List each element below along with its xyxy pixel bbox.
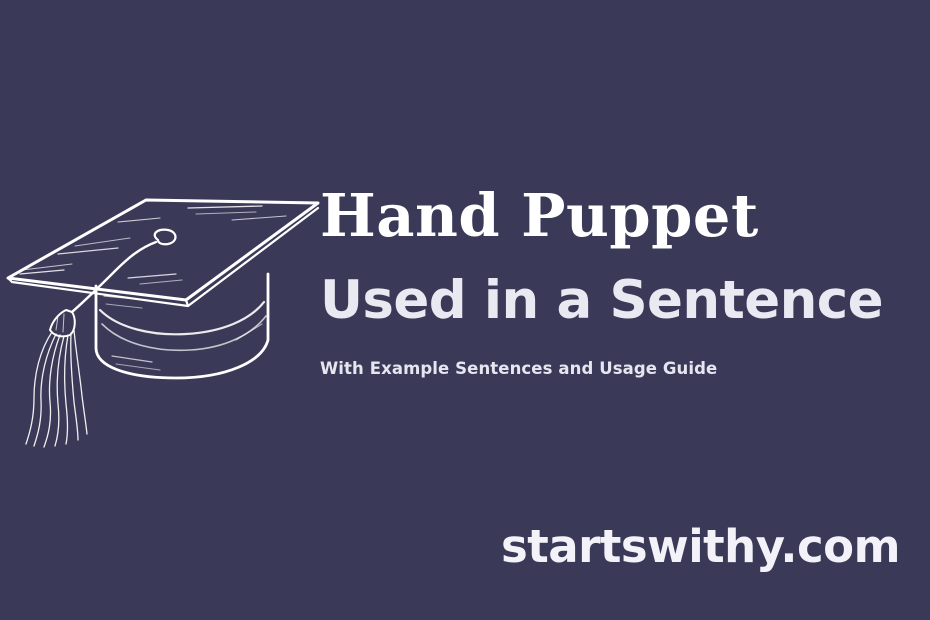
brand-wordmark: startswithy.com	[501, 524, 900, 569]
cap-base	[96, 274, 268, 378]
poster-canvas: Hand Puppet Used in a Sentence With Exam…	[0, 0, 930, 620]
page-tagline: With Example Sentences and Usage Guide	[320, 359, 920, 379]
headline-block: Hand Puppet Used in a Sentence With Exam…	[320, 186, 920, 378]
page-title: Hand Puppet	[320, 186, 920, 245]
cap-button-icon	[155, 230, 176, 421]
mortarboard-plate	[8, 200, 318, 306]
graduation-cap-icon	[0, 178, 320, 448]
page-subtitle: Used in a Sentence	[320, 273, 920, 329]
tassel-strands	[26, 330, 87, 447]
